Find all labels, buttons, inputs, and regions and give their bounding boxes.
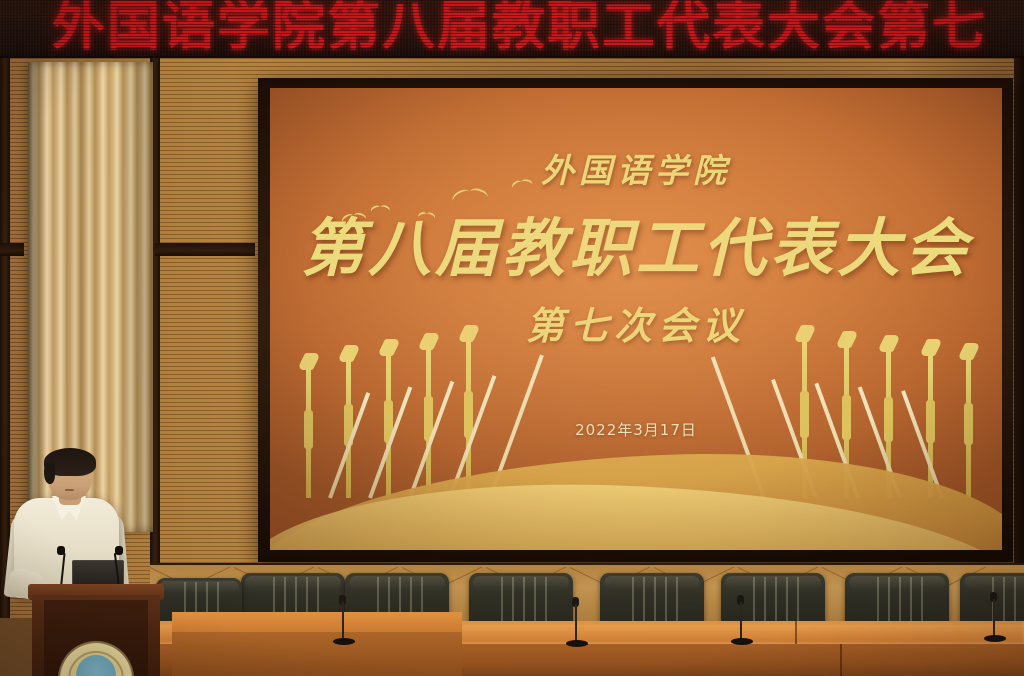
slide-organization: 外国语学院 xyxy=(270,144,1002,192)
conference-table-left-top xyxy=(172,612,462,632)
spear-l2 xyxy=(346,360,351,498)
conference-hall-scene: 外国语学院第八届教职工代表大会第七 外国语学院 第八届教职工代表大会 第七次会议… xyxy=(0,0,1024,676)
spear-l1 xyxy=(306,368,311,498)
spear-l3 xyxy=(386,354,391,498)
table-microphone-2 xyxy=(566,597,588,647)
conference-table-left-front xyxy=(172,632,462,676)
spear-l4 xyxy=(426,348,431,498)
table-row xyxy=(845,573,949,625)
wall-trim-band-center xyxy=(155,243,255,256)
table-row xyxy=(469,573,573,625)
table-microphone-3 xyxy=(731,597,753,645)
spear-r5 xyxy=(966,358,971,498)
table-microphone-1 xyxy=(333,595,355,645)
spear-l5 xyxy=(466,340,471,498)
led-banner: 外国语学院第八届教职工代表大会第七 xyxy=(0,0,1024,58)
wall-trim-band-left xyxy=(0,243,24,256)
table-microphone-4 xyxy=(984,598,1006,642)
speaker-sideburn xyxy=(44,462,55,484)
wall-pilaster-right xyxy=(1014,58,1024,618)
speaker-mouth xyxy=(65,489,74,491)
table-seam-right xyxy=(795,621,797,644)
podium-microphone-1 xyxy=(60,545,68,587)
slide-title: 第八届教职工代表大会 xyxy=(270,198,1002,289)
wall-pilaster-left xyxy=(0,58,10,618)
projection-screen-frame: 外国语学院 第八届教职工代表大会 第七次会议 2022年3月17日 xyxy=(258,78,1013,562)
table-row xyxy=(600,573,704,625)
podium-microphone-2 xyxy=(118,543,126,587)
led-banner-text: 外国语学院第八届教职工代表大会第七 xyxy=(52,0,987,56)
table-seam-front xyxy=(840,644,842,676)
projection-screen: 外国语学院 第八届教职工代表大会 第七次会议 2022年3月17日 xyxy=(270,88,1002,550)
